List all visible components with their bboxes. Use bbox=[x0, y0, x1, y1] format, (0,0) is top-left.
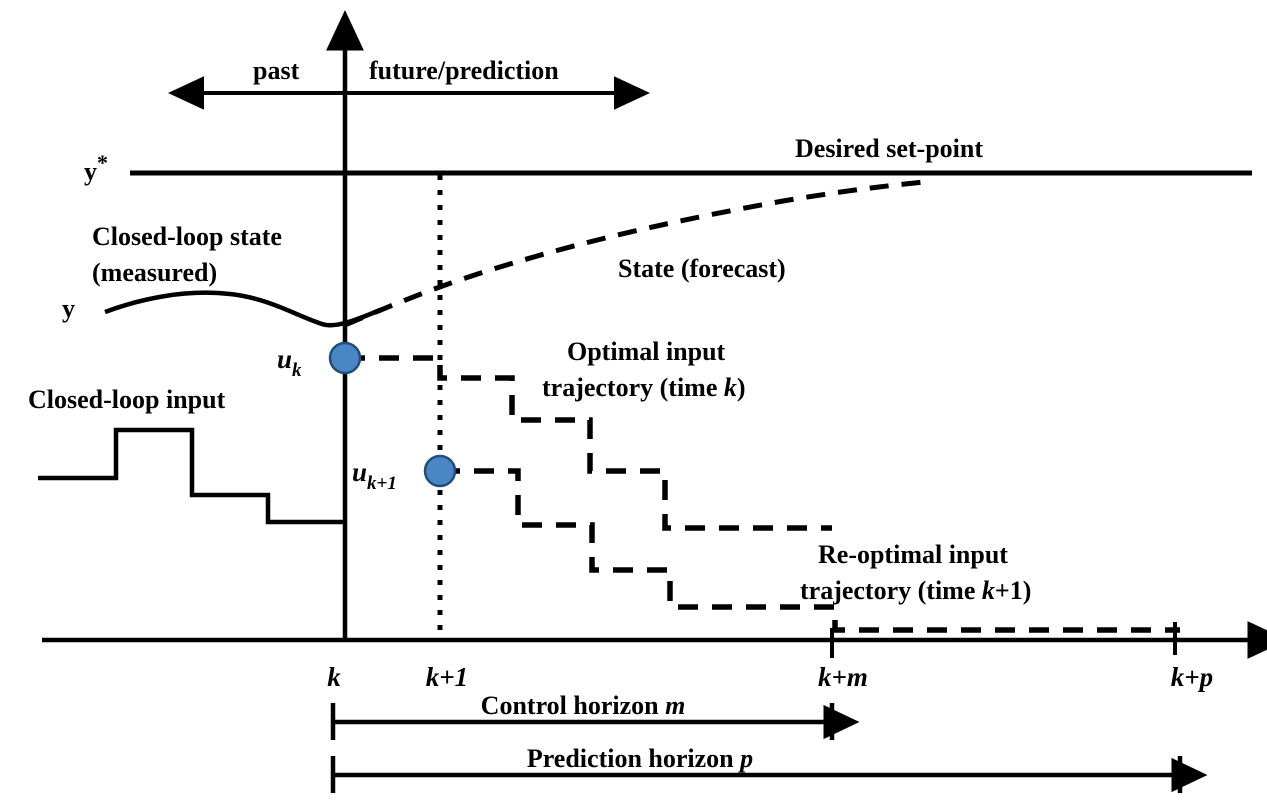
tick-label-k-plus-p: k+p bbox=[1171, 662, 1213, 692]
closed-loop-state-label-line2: (measured) bbox=[92, 258, 217, 287]
control-horizon-label: Control horizon m bbox=[481, 691, 686, 720]
setpoint-label: Desired set-point bbox=[795, 134, 983, 163]
marker-uk[interactable] bbox=[330, 343, 360, 373]
mpc-diagram: past future/prediction Desired set-point… bbox=[0, 0, 1267, 803]
past-label: past bbox=[253, 56, 300, 85]
tick-label-k: k bbox=[327, 662, 341, 692]
state-forecast-label: State (forecast) bbox=[618, 254, 786, 283]
closed-loop-state-label-line1: Closed-loop state bbox=[92, 222, 282, 251]
reoptimal-input-label-line1: Re-optimal input bbox=[818, 540, 1008, 569]
tick-label-k-plus-m: k+m bbox=[818, 662, 868, 692]
closed-loop-input-label: Closed-loop input bbox=[28, 385, 226, 414]
optimal-input-label-line2: trajectory (time k) bbox=[542, 373, 746, 402]
reoptimal-input-label-line2: trajectory (time k+1) bbox=[800, 576, 1031, 605]
state-symbol-label: y bbox=[62, 294, 75, 323]
marker-uk1[interactable] bbox=[425, 456, 455, 486]
prediction-horizon-label: Prediction horizon p bbox=[527, 744, 753, 773]
future-prediction-label: future/prediction bbox=[369, 56, 559, 85]
tick-label-k-plus-1: k+1 bbox=[426, 662, 468, 692]
optimal-input-label-line1: Optimal input bbox=[567, 337, 726, 366]
mpc-diagram-svg: past future/prediction Desired set-point… bbox=[0, 0, 1267, 803]
